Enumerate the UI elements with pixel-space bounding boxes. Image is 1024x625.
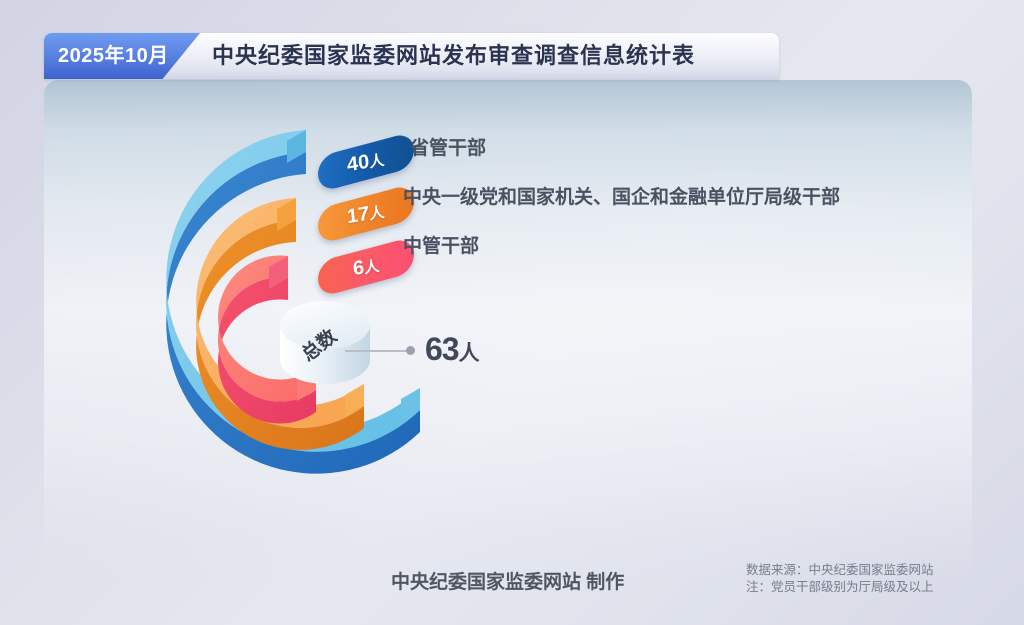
level-note: 注：党员干部级别为厅局级及以上: [746, 579, 934, 596]
total-leader-line: [345, 350, 408, 352]
total-number: 63: [425, 331, 459, 367]
source-note: 数据来源：中央纪委国家监委网站: [746, 562, 934, 579]
total-unit: 人: [459, 342, 480, 365]
total-cylinder: 总数: [280, 301, 370, 384]
category-label-province: 省管干部: [410, 133, 486, 160]
concentric-arc-chart: 总数: [120, 110, 480, 550]
producer-credit: 中央纪委国家监委网站 制作: [391, 567, 624, 594]
value-badge-label: 6人: [352, 253, 380, 280]
total-value: 63人: [425, 331, 480, 368]
chart-area: 总数 40人 17人 6人 省管干部 中央一级党和国家机关、国企和金融单位厅局级…: [0, 0, 1024, 625]
footer-notes: 数据来源：中央纪委国家监委网站 注：党员干部级别为厅局级及以上: [746, 562, 934, 596]
category-label-central-bureau: 中央一级党和国家机关、国企和金融单位厅局级干部: [403, 182, 840, 209]
value-badge-label: 40人: [346, 147, 385, 176]
category-label-centrally-administered: 中管干部: [403, 231, 479, 258]
value-badge-label: 17人: [346, 199, 385, 228]
total-leader-dot: [406, 346, 415, 355]
